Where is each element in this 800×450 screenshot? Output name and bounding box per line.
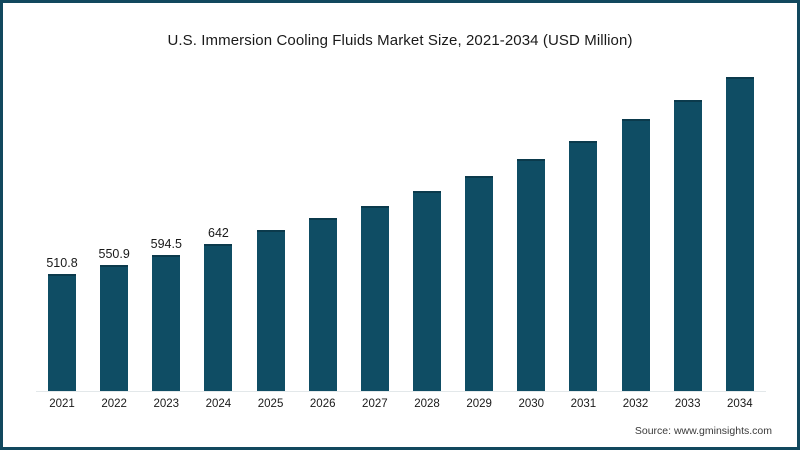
bar — [257, 230, 285, 391]
x-axis-label: 2025 — [245, 398, 297, 410]
x-axis-label: 2026 — [297, 398, 349, 410]
x-axis-tick-labels: 2021202220232024202520262027202820292030… — [36, 398, 766, 410]
chart-figure: U.S. Immersion Cooling Fluids Market Siz… — [0, 0, 800, 450]
bar — [361, 206, 389, 391]
x-axis-label: 2021 — [36, 398, 88, 410]
bar-slot — [453, 70, 505, 391]
bar-slot — [610, 70, 662, 391]
bar — [569, 141, 597, 391]
bar — [152, 255, 180, 391]
bar-slot: 550.9 — [88, 70, 140, 391]
bar — [204, 244, 232, 391]
bar-value-label: 550.9 — [99, 247, 130, 261]
bar — [674, 100, 702, 391]
bar — [309, 218, 337, 391]
bar-slot — [662, 70, 714, 391]
bar-value-label: 594.5 — [151, 237, 182, 251]
x-axis-label: 2031 — [557, 398, 609, 410]
bar-slot: 594.5 — [140, 70, 192, 391]
bar-slot: 510.8 — [36, 70, 88, 391]
bar — [726, 77, 754, 391]
x-axis-label: 2029 — [453, 398, 505, 410]
x-axis-label: 2022 — [88, 398, 140, 410]
bar-slot — [349, 70, 401, 391]
x-axis-label: 2024 — [192, 398, 244, 410]
x-axis-line — [36, 391, 766, 392]
x-axis-label: 2034 — [714, 398, 766, 410]
bar — [413, 191, 441, 391]
bar-slot — [401, 70, 453, 391]
bar-slot: 642 — [192, 70, 244, 391]
bar — [517, 159, 545, 391]
bar-series: 510.8550.9594.5642 — [36, 70, 766, 391]
x-axis-label: 2030 — [505, 398, 557, 410]
bar — [622, 119, 650, 391]
bar-value-label: 510.8 — [46, 256, 77, 270]
bar-slot — [557, 70, 609, 391]
bar — [100, 265, 128, 391]
bar-slot — [714, 70, 766, 391]
bar-slot — [505, 70, 557, 391]
bar — [48, 274, 76, 391]
x-axis-label: 2027 — [349, 398, 401, 410]
bar-slot — [297, 70, 349, 391]
source-note: Source: www.gminsights.com — [635, 425, 772, 437]
x-axis-label: 2032 — [610, 398, 662, 410]
bar-value-label: 642 — [208, 226, 229, 240]
x-axis-label: 2028 — [401, 398, 453, 410]
chart-title: U.S. Immersion Cooling Fluids Market Siz… — [0, 32, 800, 49]
bar — [465, 176, 493, 391]
x-axis-label: 2023 — [140, 398, 192, 410]
plot-area: 510.8550.9594.5642 — [36, 70, 766, 392]
x-axis-label: 2033 — [662, 398, 714, 410]
bar-slot — [245, 70, 297, 391]
